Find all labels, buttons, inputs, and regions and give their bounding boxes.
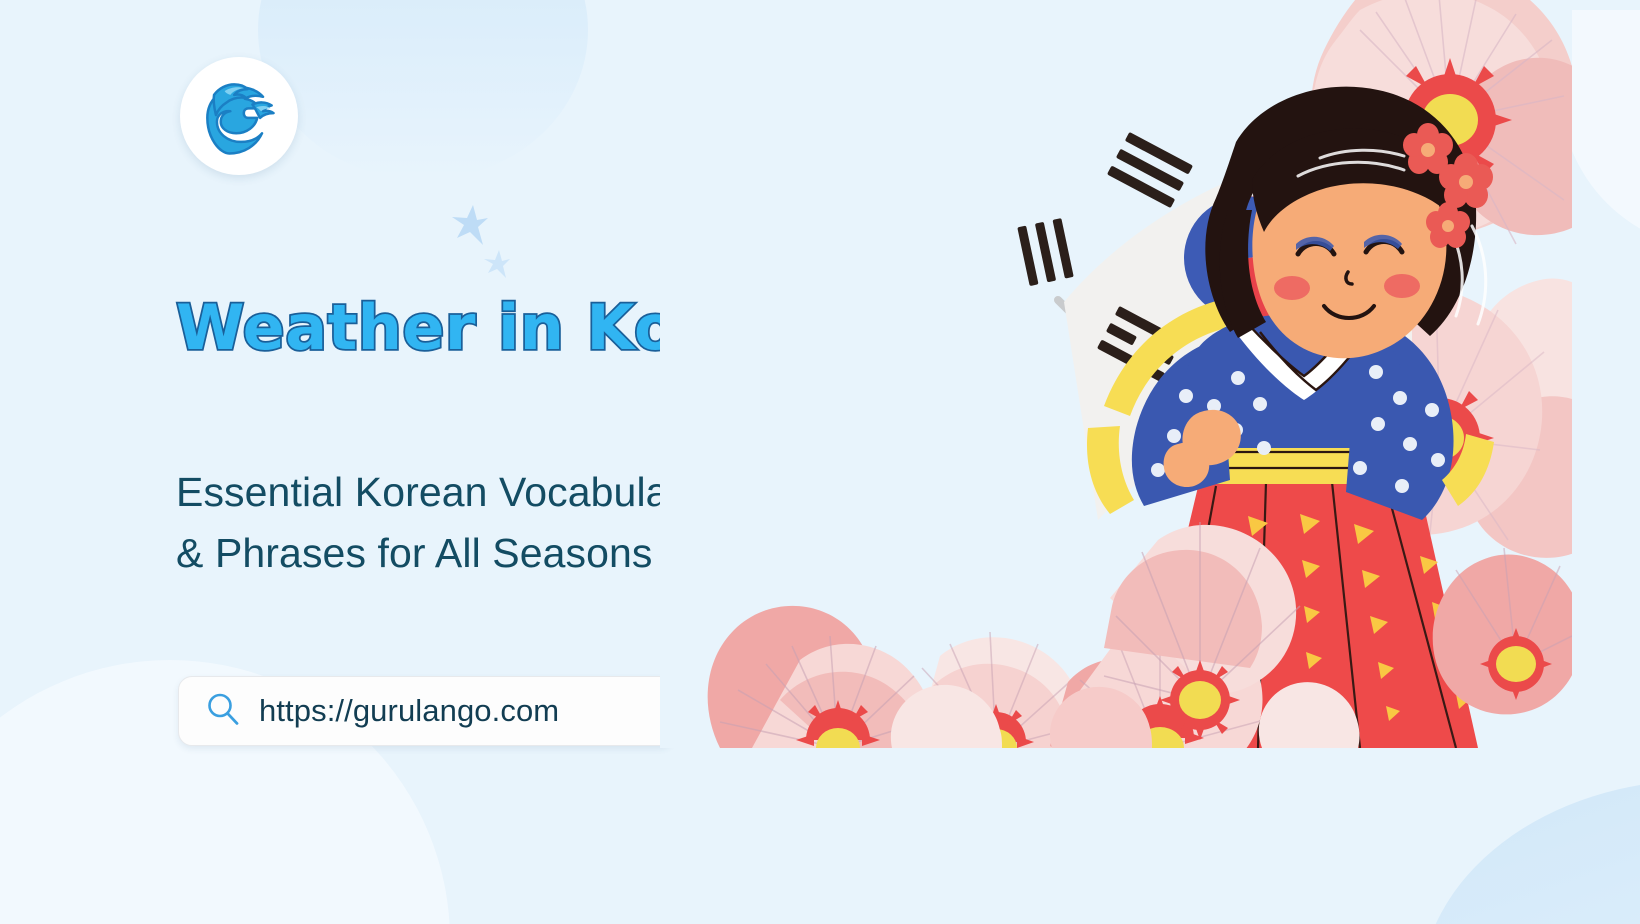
korea-illustration	[660, 0, 1572, 748]
search-icon	[205, 691, 241, 732]
website-url-text: https://gurulango.com	[259, 693, 559, 729]
decor-circle-top-left	[258, 0, 588, 180]
page-subtitle: Essential Korean Vocabulary & Phrases fo…	[176, 462, 703, 583]
star-sparkle-icon-large	[452, 205, 488, 245]
star-sparkle-icon-small	[484, 250, 510, 278]
brand-logo[interactable]	[180, 57, 298, 175]
website-url-bar[interactable]: https://gurulango.com	[178, 676, 674, 746]
subtitle-line-2: & Phrases for All Seasons	[176, 523, 703, 584]
dolphin-g-logo-icon	[191, 68, 287, 164]
hero-banner: Weather in Korea Essential Korean Vocabu…	[0, 0, 1640, 924]
decor-shape-right-top	[1560, 10, 1640, 250]
decor-circle-bottom-right	[1420, 780, 1640, 924]
subtitle-line-1: Essential Korean Vocabulary	[176, 462, 703, 523]
